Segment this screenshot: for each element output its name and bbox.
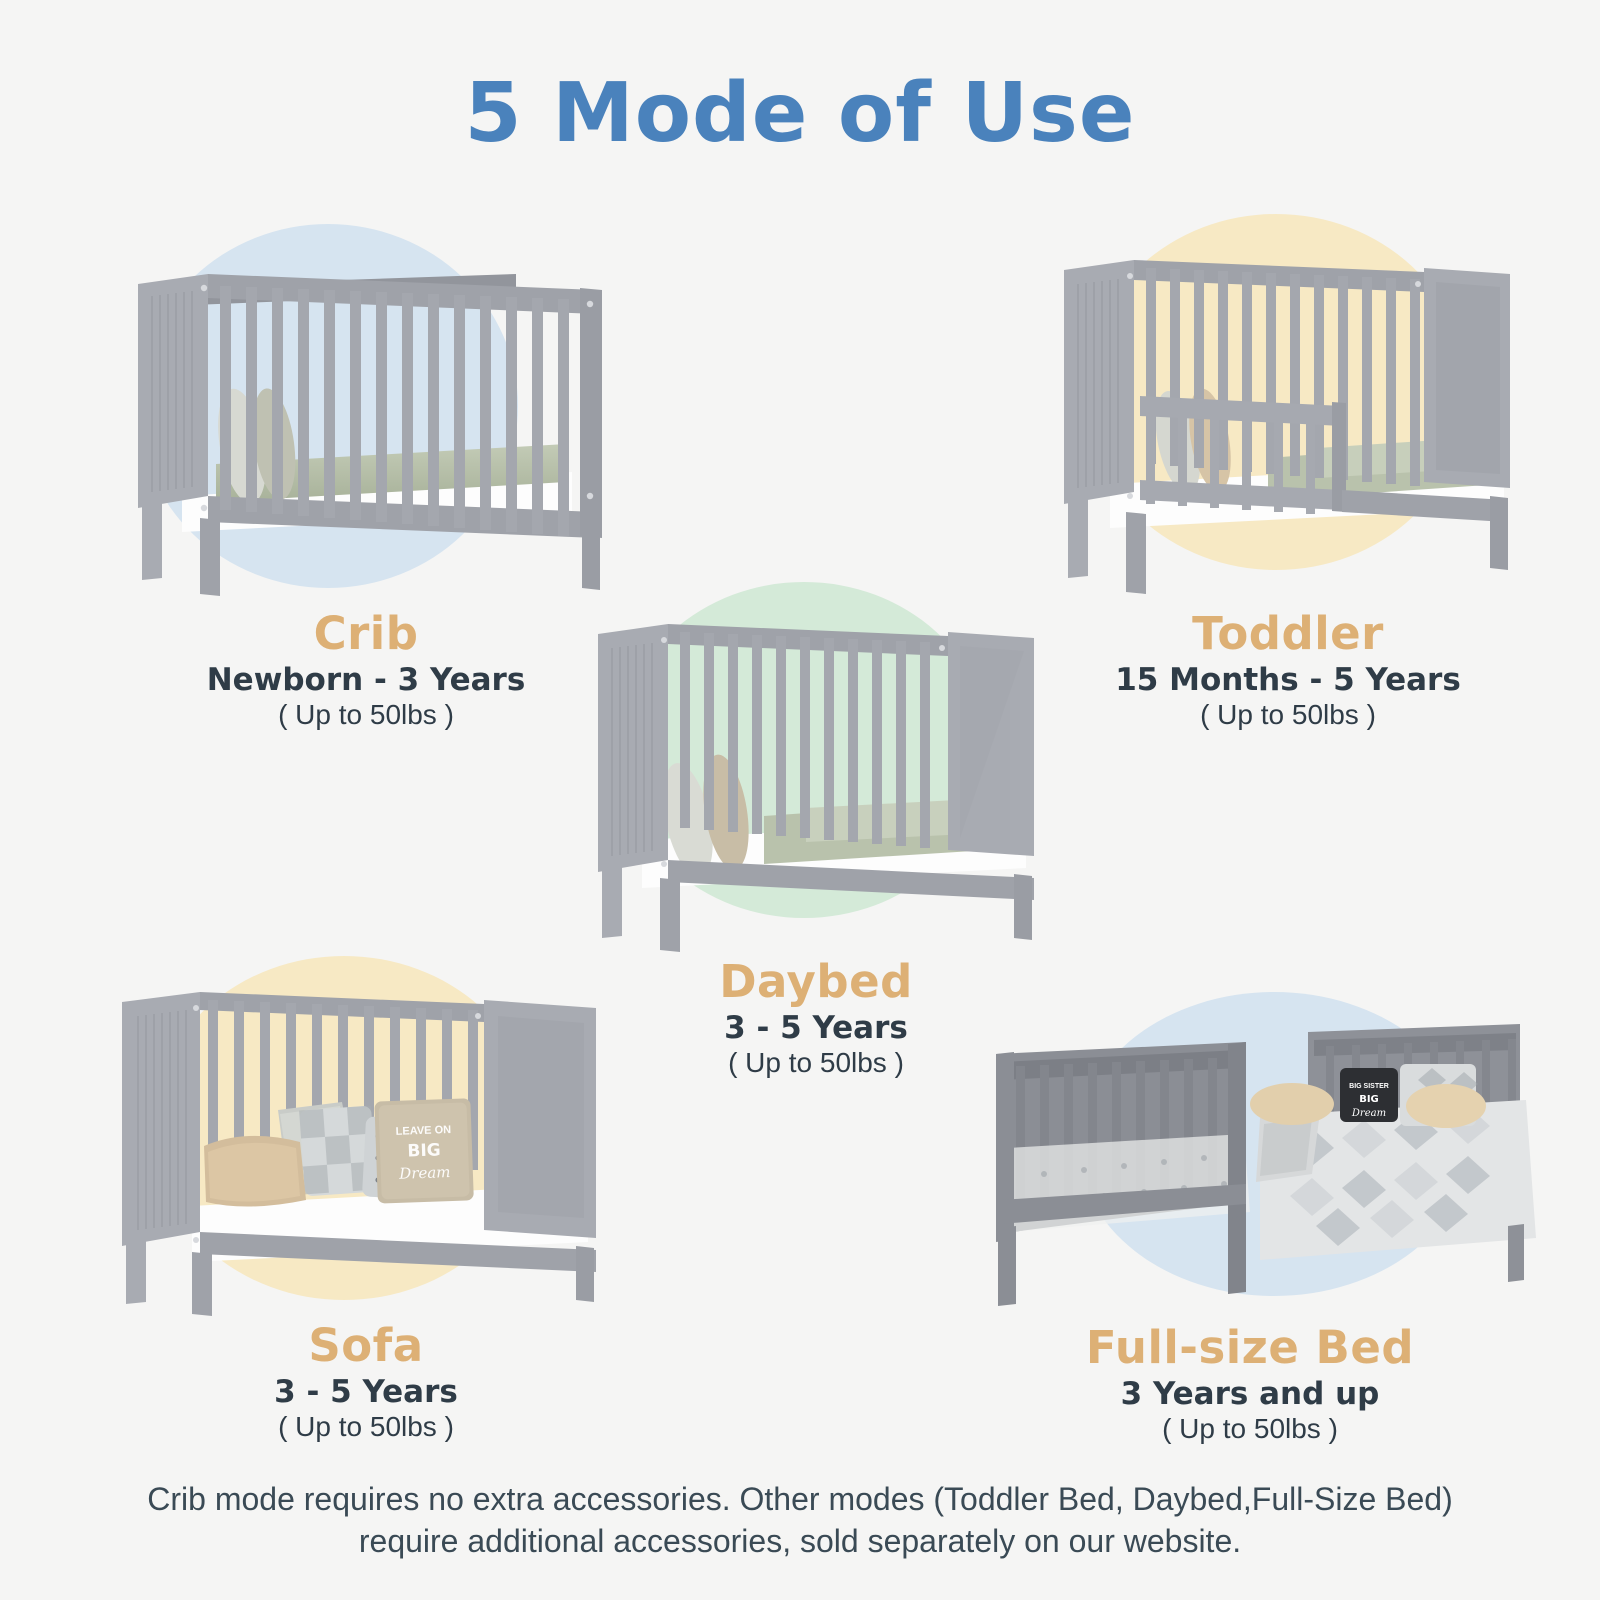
footer-note: Crib mode requires no extra accessories.…: [100, 1478, 1500, 1562]
svg-text:BIG: BIG: [1359, 1094, 1379, 1105]
svg-text:Dream: Dream: [1351, 1108, 1386, 1119]
mode-age-sofa: 3 - 5 Years: [96, 1375, 636, 1409]
mode-age-toddler: 15 Months - 5 Years: [1018, 663, 1558, 697]
footer-note-line1: Crib mode requires no extra accessories.…: [100, 1478, 1500, 1520]
infographic-page: 5 Mode of Use: [0, 0, 1600, 1600]
crib-illustration: [96, 196, 636, 610]
mode-name-toddler: Toddler: [1018, 610, 1558, 657]
footer-note-line2: require additional accessories, sold sep…: [100, 1520, 1500, 1562]
daybed-illustration: [556, 572, 1076, 958]
mode-card-toddler: Toddler 15 Months - 5 Years ( Up to 50lb…: [1018, 196, 1558, 732]
fullbed-caption: Full-size Bed 3 Years and up ( Up to 50l…: [960, 1324, 1540, 1446]
mode-weight-fullbed: ( Up to 50lbs ): [960, 1413, 1540, 1445]
toddler-caption: Toddler 15 Months - 5 Years ( Up to 50lb…: [1018, 610, 1558, 732]
svg-text:BIG: BIG: [407, 1140, 441, 1161]
mode-age-crib: Newborn - 3 Years: [96, 663, 636, 697]
mode-card-sofa: LEAVE ON BIG Dream Sofa 3 - 5 Year: [96, 950, 636, 1444]
svg-text:LEAVE ON: LEAVE ON: [396, 1124, 452, 1138]
mode-weight-sofa: ( Up to 50lbs ): [96, 1411, 636, 1443]
toddler-bed-illustration: [1018, 196, 1558, 610]
mode-name-sofa: Sofa: [96, 1322, 636, 1369]
page-title: 5 Mode of Use: [0, 66, 1600, 161]
svg-text:Dream: Dream: [398, 1163, 451, 1183]
svg-text:BIG SISTER: BIG SISTER: [1349, 1083, 1389, 1090]
mode-card-fullbed: BIG SISTER BIG Dream: [960, 988, 1540, 1446]
crib-caption: Crib Newborn - 3 Years ( Up to 50lbs ): [96, 610, 636, 732]
mode-weight-toddler: ( Up to 50lbs ): [1018, 699, 1558, 731]
mode-card-crib: Crib Newborn - 3 Years ( Up to 50lbs ): [96, 196, 636, 732]
full-size-bed-illustration: BIG SISTER BIG Dream: [960, 988, 1540, 1324]
mode-name-crib: Crib: [96, 610, 636, 657]
sofa-illustration: LEAVE ON BIG Dream: [96, 950, 636, 1322]
sofa-caption: Sofa 3 - 5 Years ( Up to 50lbs ): [96, 1322, 636, 1444]
mode-name-fullbed: Full-size Bed: [960, 1324, 1540, 1371]
mode-weight-crib: ( Up to 50lbs ): [96, 699, 636, 731]
mode-age-fullbed: 3 Years and up: [960, 1377, 1540, 1411]
